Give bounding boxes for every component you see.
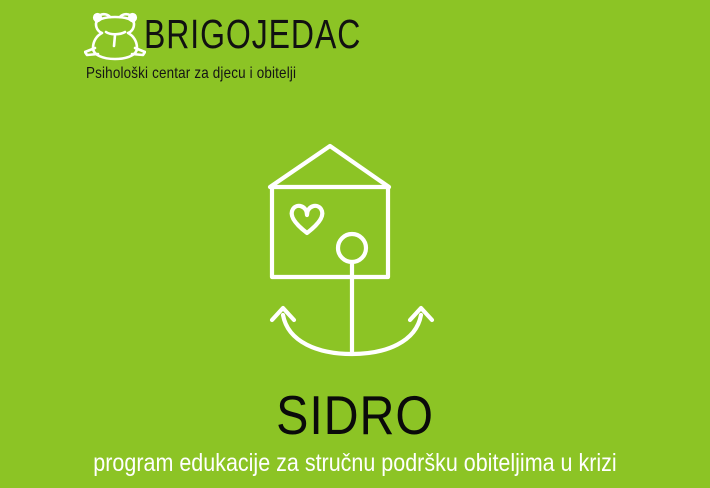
slide-canvas: BRIGOJEDAC Psihološki centar za djecu i … [0, 0, 710, 488]
house-anchor-icon [250, 130, 460, 365]
brand-tagline: Psihološki centar za djecu i obitelji [86, 64, 304, 84]
page-title: SIDRO [43, 386, 668, 444]
house-roof-icon [270, 146, 389, 187]
anchor-ring-icon [338, 234, 366, 262]
program-subtitle: program edukacije za stručnu podršku obi… [50, 447, 661, 479]
heart-icon [292, 206, 323, 233]
brand-wordmark: BRIGOJEDAC [144, 10, 308, 58]
brand-logo[interactable]: BRIGOJEDAC Psihološki centar za djecu i … [84, 4, 304, 88]
house-body-icon [272, 187, 388, 277]
frog-icon [84, 8, 146, 62]
